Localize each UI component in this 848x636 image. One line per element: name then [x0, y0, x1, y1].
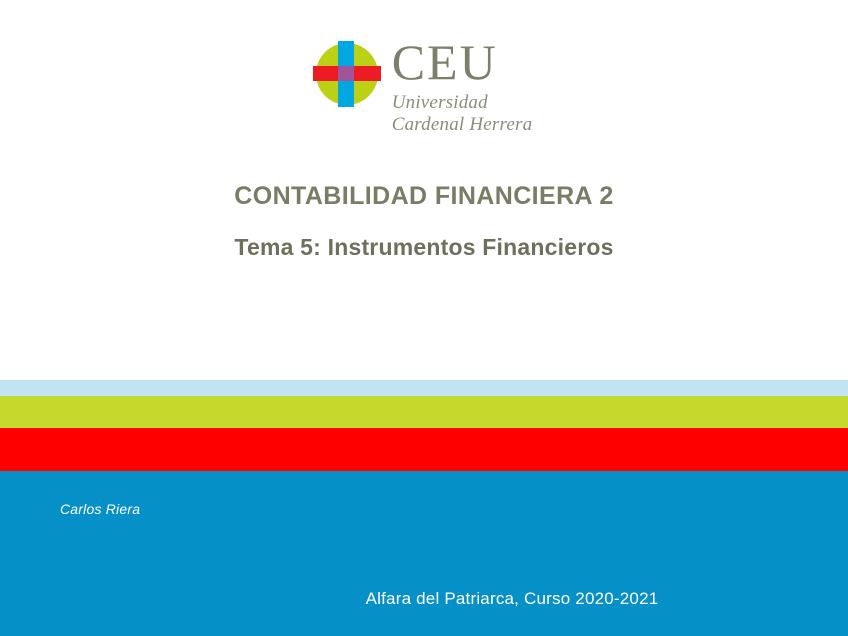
ceu-logo-inner: CEU Universidad Cardenal Herrera [316, 40, 533, 137]
color-band-blue [0, 471, 848, 636]
ceu-wordmark-line1: Universidad [392, 92, 533, 114]
logo-cross-intersection-shape [338, 66, 354, 81]
page-title: CONTABILIDAD FINANCIERA 2 [0, 182, 848, 211]
title-slide: CEU Universidad Cardenal Herrera CONTABI… [0, 0, 848, 636]
ceu-wordmark-line2: Cardenal Herrera [392, 114, 533, 136]
color-band-light-blue [0, 380, 848, 396]
color-band-red [0, 428, 848, 471]
page-subtitle: Tema 5: Instrumentos Financieros [0, 234, 848, 261]
author-name: Carlos Riera [60, 501, 140, 517]
place-and-course-text: Alfara del Patriarca, Curso 2020-2021 [366, 589, 659, 609]
ceu-wordmark-main: CEU [392, 38, 533, 87]
ceu-wordmark: CEU Universidad Cardenal Herrera [392, 40, 533, 137]
place-and-course: Alfara del Patriarca, Curso 2020-2021 [0, 589, 848, 609]
ceu-logo: CEU Universidad Cardenal Herrera [0, 40, 848, 137]
color-band-yellow-green [0, 396, 848, 428]
ceu-cross-circle-logo-icon [316, 43, 378, 105]
